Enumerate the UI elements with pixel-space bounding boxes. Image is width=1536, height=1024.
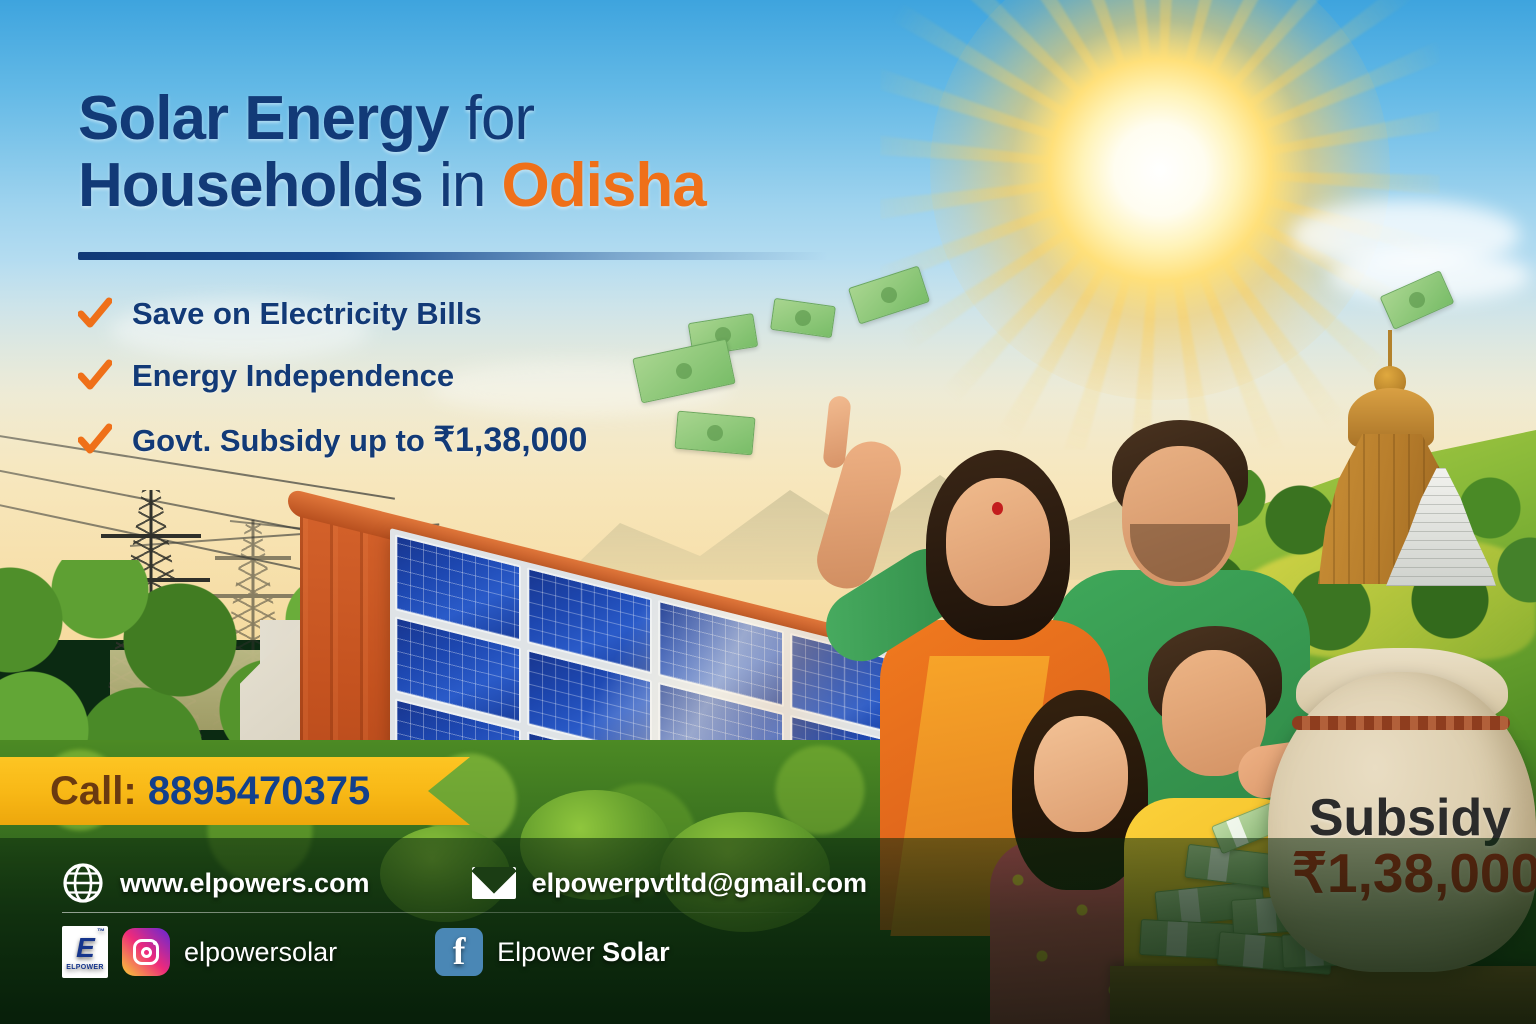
headline-line1-light: for — [465, 84, 534, 153]
logo-wordmark: ELPOWER — [66, 964, 104, 971]
benefit-label-prefix: Govt. Subsidy up to — [132, 423, 433, 458]
headline-line-1: Solar Energy for — [78, 86, 838, 153]
facebook-icon[interactable]: f — [435, 928, 483, 976]
contact-row-social: ™ E ELPOWER elpowersolar f Elpower Solar — [62, 926, 670, 978]
jagannath-temple — [1312, 330, 1482, 580]
headline-underline — [78, 252, 828, 260]
list-item: Govt. Subsidy up to ₹1,38,000 — [78, 420, 718, 460]
footer-divider — [62, 912, 822, 913]
solar-energy-advertisement-poster: Subsidy ₹1,38,000 Solar Energy for House… — [0, 0, 1536, 1024]
logo-trademark: ™ — [97, 927, 105, 936]
headline-line2-bold: Households — [78, 151, 423, 220]
check-icon — [78, 359, 112, 393]
website-url[interactable]: www.elpowers.com — [120, 868, 370, 899]
instagram-flash-dot — [153, 941, 157, 945]
mother-head — [946, 478, 1050, 606]
headline-highlight-odisha: Odisha — [502, 151, 706, 220]
money-bag-tie — [1292, 716, 1510, 730]
call-label: Call: — [50, 769, 137, 813]
check-icon — [78, 423, 112, 457]
girl-head — [1034, 716, 1128, 832]
mail-flap — [472, 867, 516, 894]
instagram-lens — [141, 947, 152, 958]
call-text: Call: 8895470375 — [50, 771, 370, 811]
logo-letter-e: E — [76, 934, 94, 962]
page-title: Solar Energy for Households in Odisha — [78, 86, 838, 220]
mother-bindi — [992, 502, 1003, 515]
instagram-camera-outline — [133, 939, 159, 965]
pylon-arm — [101, 534, 201, 538]
benefit-label: Govt. Subsidy up to ₹1,38,000 — [132, 420, 587, 460]
check-icon — [78, 297, 112, 331]
mail-icon — [472, 867, 516, 899]
headline-line-2: Households in Odisha — [78, 153, 838, 220]
list-item: Save on Electricity Bills — [78, 296, 718, 332]
benefit-label-amount: ₹1,38,000 — [433, 421, 587, 459]
email-address[interactable]: elpowerpvtltd@gmail.com — [532, 868, 867, 899]
call-banner[interactable]: Call: 8895470375 — [0, 757, 470, 825]
call-phone-number[interactable]: 8895470375 — [148, 769, 370, 813]
benefit-label: Energy Independence — [132, 358, 454, 394]
contact-row-primary: www.elpowers.com elpowerpvtltd@gmail.com — [62, 862, 867, 904]
headline-line2-light: in — [439, 151, 485, 220]
benefits-list: Save on Electricity Bills Energy Indepen… — [78, 296, 718, 486]
elpower-logo: ™ E ELPOWER — [62, 926, 108, 978]
subsidy-title: Subsidy — [1292, 792, 1528, 844]
benefit-label: Save on Electricity Bills — [132, 296, 482, 332]
instagram-icon[interactable] — [122, 928, 170, 976]
facebook-page-name[interactable]: Elpower Solar — [497, 937, 670, 968]
headline-line1-bold: Solar Energy — [78, 84, 448, 153]
facebook-name-bold: Solar — [602, 937, 670, 967]
list-item: Energy Independence — [78, 358, 718, 394]
facebook-name-light: Elpower — [497, 937, 595, 967]
instagram-handle[interactable]: elpowersolar — [184, 937, 337, 968]
globe-icon — [62, 862, 104, 904]
mother-pointing-arm — [790, 380, 940, 580]
facebook-glyph: f — [453, 933, 466, 971]
